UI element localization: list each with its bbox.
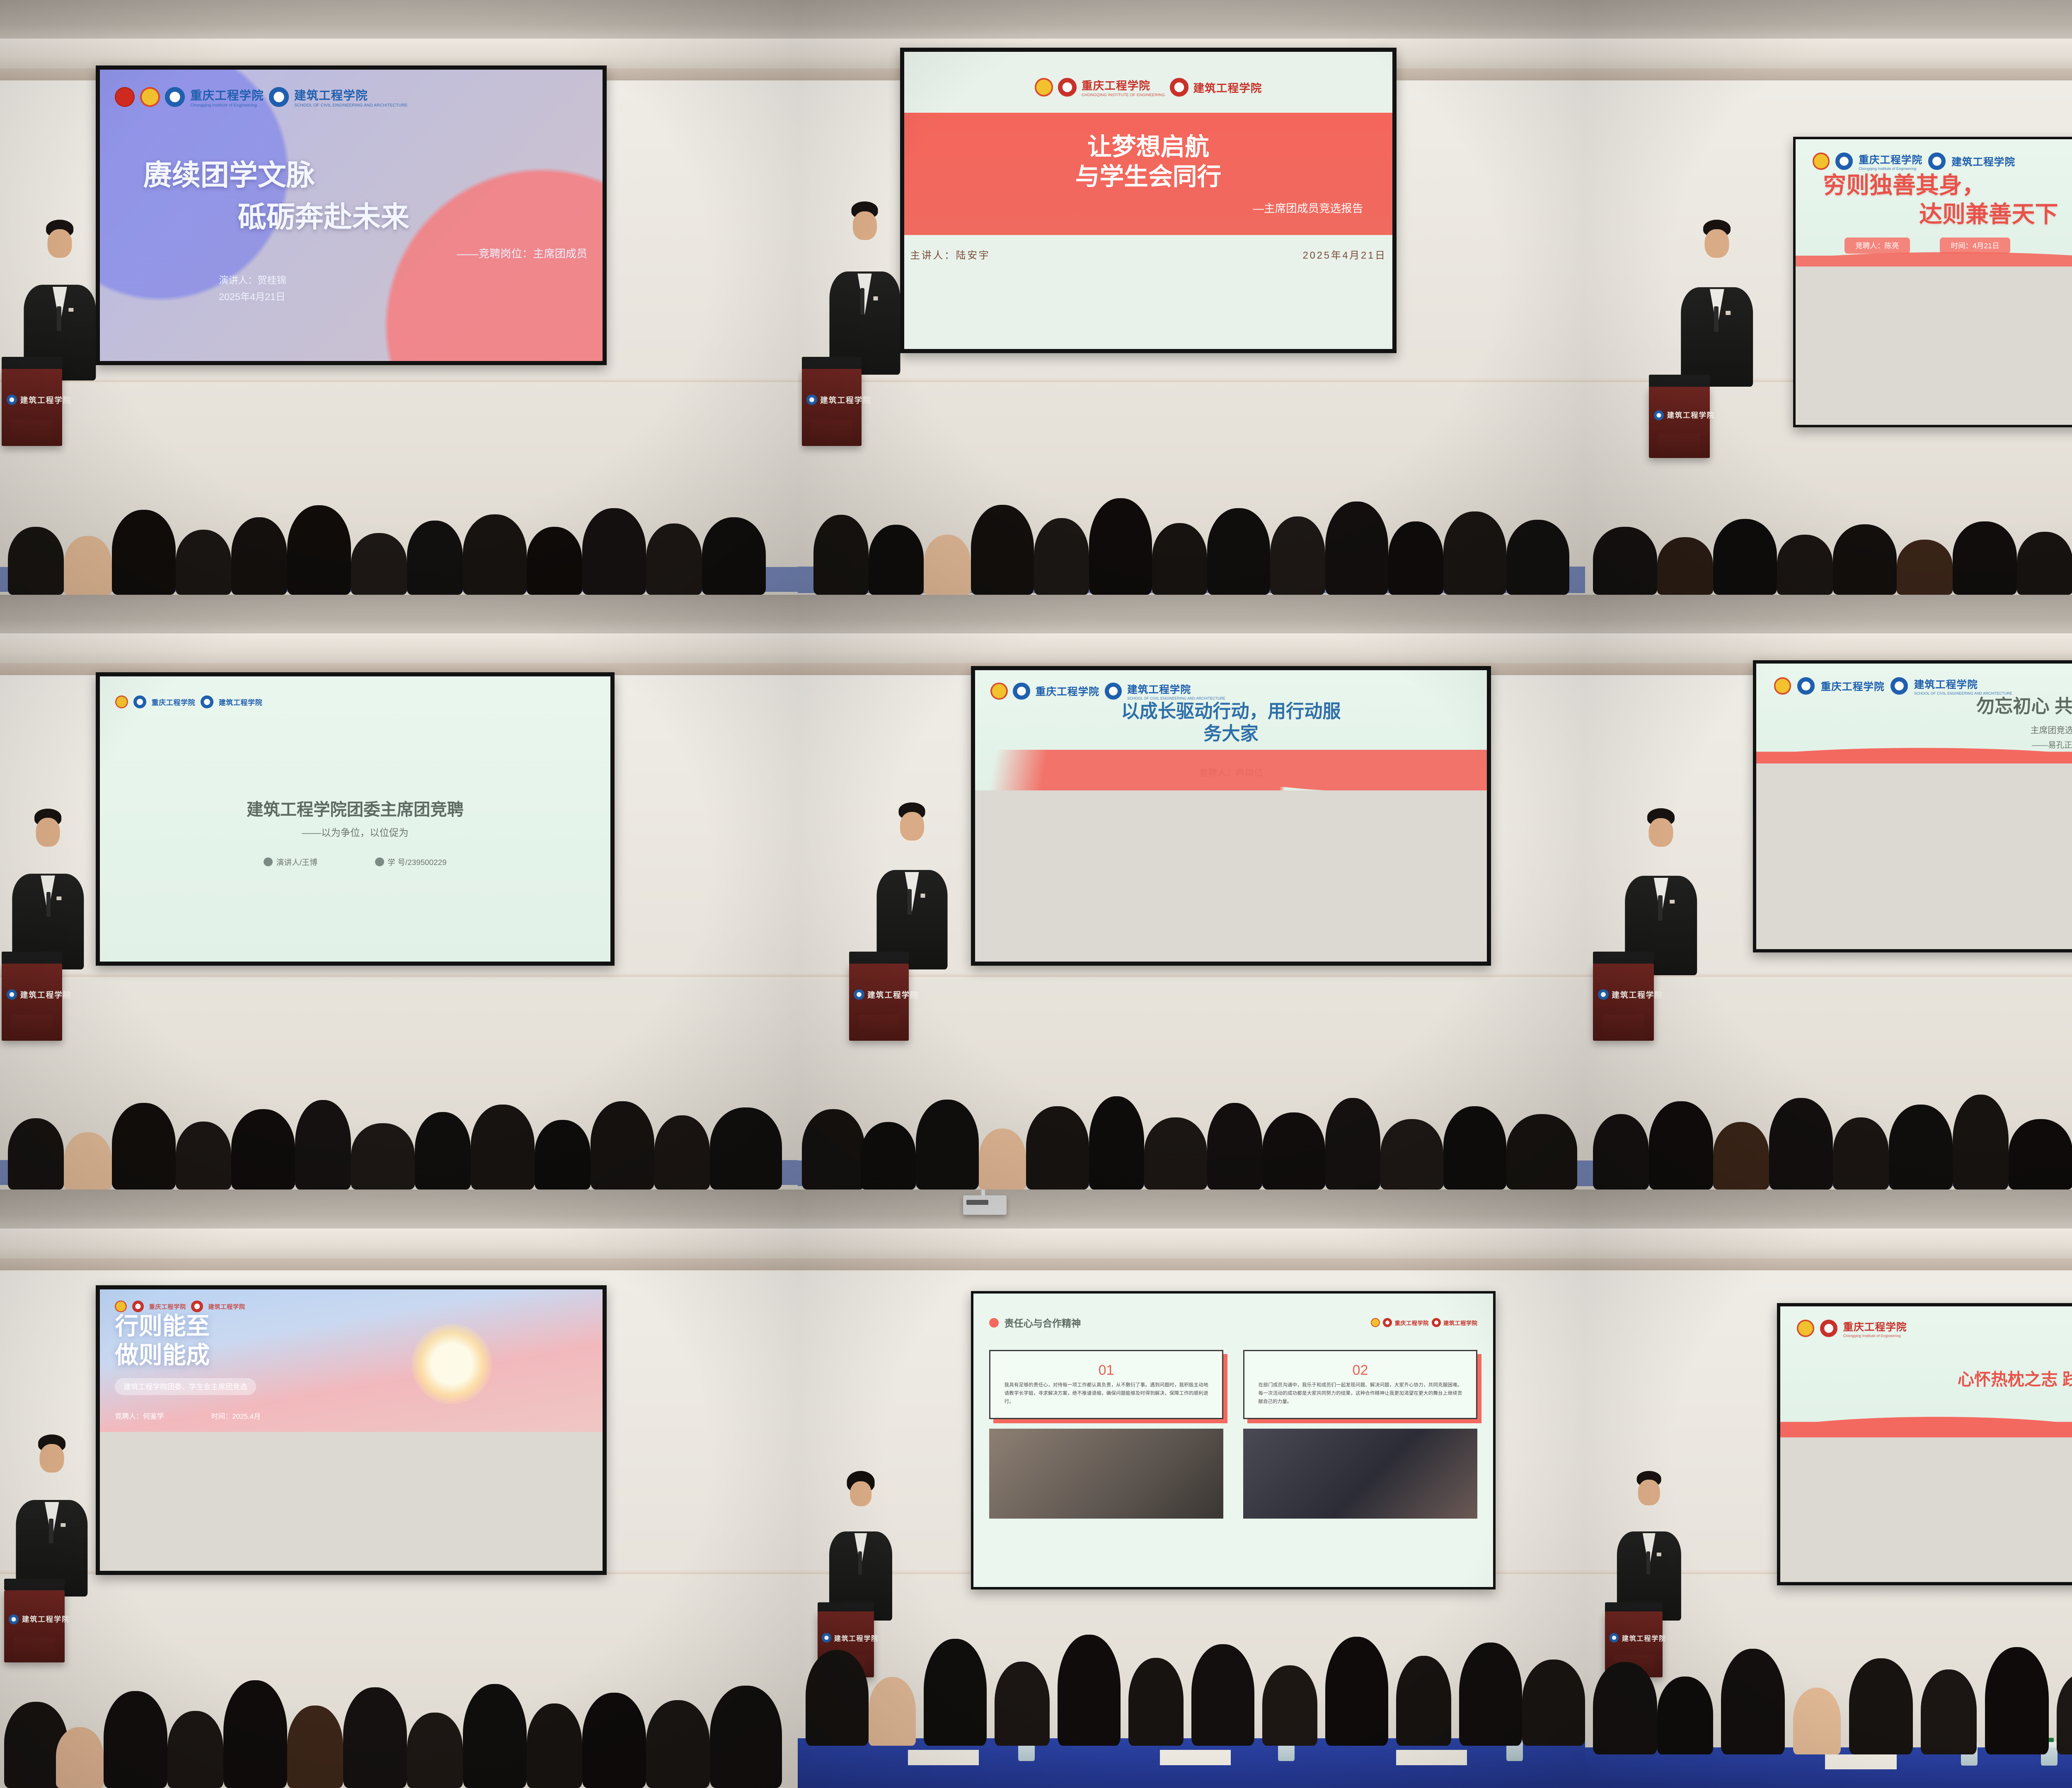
audience-head xyxy=(582,1693,646,1788)
university-seal-icon xyxy=(1835,153,1853,170)
speaker-figure xyxy=(829,208,900,375)
school-name: 建筑工程学院 xyxy=(219,697,262,707)
audience-seating xyxy=(1585,1602,2072,1788)
slide-title-line-1: 让梦想启航 xyxy=(934,132,1363,162)
slide-date: 时间：2025.4月 xyxy=(211,1410,261,1421)
audience-head xyxy=(1721,1649,1785,1754)
youth-league-emblem-icon xyxy=(1797,1320,1814,1337)
projection-screen: 重庆工程学院 Chongqing Institute of Engineerin… xyxy=(96,65,607,365)
audience-head xyxy=(813,515,869,595)
card-number: 01 xyxy=(1005,1363,1208,1377)
speaker-badge xyxy=(68,308,73,312)
audience-head xyxy=(924,535,971,595)
audience-head xyxy=(1191,1644,1254,1746)
youth-league-emblem-icon xyxy=(1774,677,1791,695)
slide-meta: 竞聘人：何鉴学 时间：2025.4月 xyxy=(115,1410,587,1421)
university-seal-icon xyxy=(133,695,146,708)
audience-head xyxy=(2057,1673,2072,1754)
card-box: 02 在部门成员沟通中，我乐于和成员们一起发现问题、解决问题，大家齐心协力，共同… xyxy=(1243,1350,1478,1419)
university-seal-icon xyxy=(1058,78,1077,97)
audience-head xyxy=(1058,1635,1121,1746)
ceiling-projector xyxy=(963,1195,1007,1214)
audience-head xyxy=(1380,1119,1443,1190)
audience-head xyxy=(1921,1669,1977,1755)
audience-head xyxy=(1897,540,1953,595)
ceiling xyxy=(1585,595,2072,636)
audience-head xyxy=(1026,1106,1089,1190)
projection-screen: 重庆工程学院 Chongqing Institute of Engineerin… xyxy=(1793,137,2072,427)
slide-logo-bar: 重庆工程学院 Chongqing Institute of Engineerin… xyxy=(1797,1319,2072,1338)
audience-head xyxy=(1325,502,1388,595)
university-name: 重庆工程学院 xyxy=(1821,678,1885,693)
podium-sign: 建筑工程学院 xyxy=(1651,397,1707,434)
audience-head xyxy=(295,1100,351,1190)
school-name: 建筑工程学院 xyxy=(1951,154,2015,169)
slide-logo-bar: 重庆工程学院 Chongqing Institute of Engineerin… xyxy=(1813,152,2072,171)
audience-head xyxy=(1207,508,1270,595)
audience-head xyxy=(1985,1647,2049,1755)
slide-panel-3: 重庆工程学院 Chongqing Institute of Engineerin… xyxy=(1796,139,2072,267)
podium-sign: 建筑工程学院 xyxy=(804,380,859,420)
university-name: 重庆工程学院 CHONGQING INSTITUTE OF ENGINEERIN… xyxy=(1082,77,1165,97)
school-name: 建筑工程学院 xyxy=(208,1302,245,1311)
ceiling xyxy=(0,0,798,41)
slide-logo-bar: 重庆工程学院 建筑工程学院 xyxy=(115,688,595,717)
school-seal-icon xyxy=(854,989,864,1000)
slide-chip: 建筑工程学院团委、学生会主席团竞选 xyxy=(115,1378,256,1395)
audience-head xyxy=(1459,1643,1522,1746)
school-seal-icon xyxy=(1890,677,1908,695)
ceiling-trim xyxy=(1585,68,2072,82)
audience-head xyxy=(527,527,583,595)
university-seal-icon xyxy=(165,87,185,107)
school-seal-icon xyxy=(1598,989,1609,1000)
audience-head xyxy=(64,536,112,595)
wall-seam xyxy=(798,379,1585,383)
audience-head xyxy=(1833,1117,1889,1190)
audience-head xyxy=(343,1687,407,1788)
university-seal-icon xyxy=(132,1301,144,1313)
school-seal-icon xyxy=(7,395,17,405)
slide-title-line-1: 穷则独善其身， xyxy=(1823,171,2072,200)
wall-seam xyxy=(0,379,798,383)
audience-head xyxy=(1443,1106,1506,1190)
university-seal-icon xyxy=(1383,1318,1392,1327)
microphone-icon xyxy=(57,306,61,331)
school-name: 建筑工程学院 SCHOOL OF CIVIL ENGINEERING AND A… xyxy=(294,86,408,108)
audience-head xyxy=(1443,511,1506,595)
youth-league-emblem-icon xyxy=(1371,1318,1380,1327)
projection-screen: 重庆工程学院 建筑工程学院 SCHOOL OF CIVIL ENGINEERIN… xyxy=(1753,660,2072,952)
ceiling-soffit xyxy=(798,633,1585,666)
microphone-icon xyxy=(1646,1551,1650,1574)
audience-head xyxy=(415,1112,471,1190)
school-name: 建筑工程学院 xyxy=(1443,1319,1477,1327)
card-box: 01 我具有足够的责任心，对待每一项工作都认真负责，从不敷衍了事。遇到问题时，我… xyxy=(989,1350,1224,1419)
slide-panel-6: 重庆工程学院 建筑工程学院 SCHOOL OF CIVIL ENGINEERIN… xyxy=(1756,664,2072,763)
university-seal-icon xyxy=(1013,683,1030,700)
panel-top-right: 重庆工程学院 Chongqing Institute of Engineerin… xyxy=(1585,0,2072,595)
university-name: 重庆工程学院 Chongqing Institute of Engineerin… xyxy=(190,86,264,108)
youth-league-emblem-icon xyxy=(140,87,160,107)
slide-student-id: 学 号/239500229 xyxy=(375,856,447,867)
audience-head xyxy=(916,1100,979,1190)
podium: 建筑工程学院 xyxy=(1649,387,1710,458)
audience-head xyxy=(535,1120,591,1190)
youth-league-emblem-icon xyxy=(115,695,128,708)
audience-head xyxy=(1889,1105,1953,1190)
school-name: 建筑工程学院 SCHOOL OF CIVIL ENGINEERING AND A… xyxy=(1127,681,1225,700)
speaker-head xyxy=(40,1444,64,1473)
audience-seating xyxy=(0,1035,798,1190)
audience-head xyxy=(1657,1677,1713,1754)
school-seal-icon xyxy=(1105,683,1122,700)
audience-head xyxy=(1657,537,1713,595)
slide-speaker: 主讲人：陆安宇 xyxy=(910,247,990,262)
wall-seam xyxy=(0,974,798,977)
speaker-suit xyxy=(1681,287,1753,387)
audience-head xyxy=(1593,527,1657,595)
audience-head xyxy=(1388,521,1443,595)
audience-head xyxy=(995,1662,1050,1746)
red-mountain-decoration xyxy=(1780,1408,2072,1437)
audience-head xyxy=(471,1105,535,1190)
microphone-icon xyxy=(46,892,51,917)
slide-title-line-2: 砥砺奔赴未来 xyxy=(238,200,588,235)
slide-title-line-1: 赓续团学文脉 xyxy=(143,158,588,193)
audience-head xyxy=(463,514,527,595)
slide-panel-1: 重庆工程学院 Chongqing Institute of Engineerin… xyxy=(100,70,603,361)
ceiling-trim xyxy=(1585,1258,2072,1272)
panel-bottom-center: 责任心与合作精神 重庆工程学院 建筑工程学院 xyxy=(798,1190,1585,1788)
microphone-icon xyxy=(860,288,864,315)
speaker-head xyxy=(1705,229,1729,258)
podium: 建筑工程学院 xyxy=(2,369,62,446)
card-text: 我具有足够的责任心，对待每一项工作都认真负责，从不敷衍了事。遇到问题时，我积极主… xyxy=(1005,1381,1208,1406)
audience-head xyxy=(463,1684,527,1788)
audience-head xyxy=(1777,535,1833,595)
nameplate xyxy=(1825,1754,1897,1769)
audience-head xyxy=(407,521,463,595)
audience-head xyxy=(1089,1096,1144,1190)
audience-head xyxy=(802,1109,865,1190)
speaker-shirt xyxy=(857,274,871,315)
audience-head xyxy=(1506,1114,1577,1190)
speaker-badge xyxy=(1657,1553,1661,1556)
ceiling-soffit xyxy=(1585,1228,2072,1261)
speaker-head xyxy=(850,1481,871,1507)
audience-head xyxy=(1262,1112,1325,1190)
podium-top xyxy=(849,952,909,965)
audience-head xyxy=(104,1691,167,1788)
panel-middle-right: 重庆工程学院 建筑工程学院 SCHOOL OF CIVIL ENGINEERIN… xyxy=(1585,595,2072,1190)
podium-top xyxy=(1593,952,1654,965)
speaker-badge xyxy=(1670,900,1675,904)
speaker-head xyxy=(1649,818,1673,847)
slide-footer: 主讲人：陆安宇 2025年4月21日 xyxy=(904,235,1392,262)
audience-head xyxy=(223,1680,287,1788)
wall-seam xyxy=(798,974,1585,977)
audience-head xyxy=(351,1123,415,1190)
slide-cards: 01 我具有足够的责任心，对待每一项工作都认真负责，从不敷衍了事。遇到问题时，我… xyxy=(989,1350,1478,1575)
slide-candidate: 竞聘人：何鉴学 xyxy=(115,1410,164,1421)
slide-panel-8: 责任心与合作精神 重庆工程学院 建筑工程学院 xyxy=(973,1294,1493,1587)
panel-bottom-right: 重庆工程学院 Chongqing Institute of Engineerin… xyxy=(1585,1190,2072,1788)
slide-subtitle: —主席团成员竞选报告 xyxy=(934,202,1363,216)
projection-screen: 责任心与合作精神 重庆工程学院 建筑工程学院 xyxy=(971,1291,1496,1589)
id-icon xyxy=(375,858,384,867)
audience-head xyxy=(654,1115,710,1190)
ceiling xyxy=(798,1190,1585,1231)
school-seal-icon xyxy=(191,1301,203,1313)
microphone-icon xyxy=(1658,895,1662,921)
audience-head xyxy=(64,1132,112,1190)
speaker-head xyxy=(1638,1480,1660,1505)
slide-speaker: 演讲人/王博 xyxy=(264,856,317,867)
projection-screen: 重庆工程学院 建筑工程学院 SCHOOL OF CIVIL ENGINEERIN… xyxy=(971,666,1491,966)
audience-head xyxy=(1833,524,1897,595)
youth-league-emblem-icon xyxy=(1035,78,1053,97)
university-name: 重庆工程学院 xyxy=(1036,683,1099,698)
school-name: 建筑工程学院 xyxy=(1193,79,1262,95)
university-name: 重庆工程学院 Chongqing Institute of Engineerin… xyxy=(1859,152,1922,171)
audience-head xyxy=(924,1639,987,1746)
audience-head xyxy=(1325,1098,1380,1190)
speaker-figure xyxy=(1617,1477,1681,1621)
audience-seating xyxy=(0,1609,798,1788)
audience-head xyxy=(1262,1665,1317,1746)
university-seal-icon xyxy=(1797,677,1815,695)
slide-date: 2025年4月21日 xyxy=(1303,247,1387,262)
podium-sign: 建筑工程学院 xyxy=(4,974,60,1015)
speaker-figure xyxy=(12,815,84,969)
ceiling xyxy=(798,595,1585,636)
panel-top-center: 重庆工程学院 CHONGQING INSTITUTE OF ENGINEERIN… xyxy=(798,0,1585,595)
audience-head xyxy=(1144,1117,1207,1190)
slide-title-line-1: 建筑工程学院团委主席团竞聘 xyxy=(115,800,595,820)
slide-panel-2: 重庆工程学院 CHONGQING INSTITUTE OF ENGINEERIN… xyxy=(904,52,1392,349)
slide-heading: 责任心与合作精神 xyxy=(989,1316,1081,1330)
audience-head xyxy=(971,505,1034,595)
speaker-head xyxy=(48,229,72,258)
speaker-badge xyxy=(61,1523,65,1527)
nameplate xyxy=(1160,1750,1231,1765)
slide-logo-bar: 重庆工程学院 建筑工程学院 xyxy=(115,1301,587,1313)
audience-head xyxy=(1270,516,1325,595)
speaker-head xyxy=(852,211,876,240)
audience-head xyxy=(806,1650,869,1746)
card-photo xyxy=(989,1429,1224,1519)
audience-head xyxy=(56,1727,104,1788)
audience-head xyxy=(1953,1095,2009,1190)
ceiling xyxy=(1585,0,2072,41)
school-seal-icon xyxy=(1928,153,1946,170)
slide-logo-bar: 重庆工程学院 建筑工程学院 SCHOOL OF CIVIL ENGINEERIN… xyxy=(1774,676,2072,695)
content-card: 02 在部门成员沟通中，我乐于和成员们一起发现问题、解决问题，大家齐心协力，共同… xyxy=(1243,1350,1478,1575)
projection-screen: 重庆工程学院 建筑工程学院 建筑工程学院团委主席团竞聘 ——以为争位，以位促为 … xyxy=(96,672,615,966)
audience-head xyxy=(351,533,407,595)
slide-title-line-1: 以成长驱动行动，用行动服 xyxy=(990,700,1472,723)
audience-head xyxy=(1953,521,2016,595)
slide-logo-bar: 重庆工程学院 建筑工程学院 xyxy=(1371,1318,1477,1327)
audience-head xyxy=(1152,523,1207,595)
university-seal-icon xyxy=(1820,1320,1837,1337)
nameplate xyxy=(1396,1750,1467,1765)
audience-head xyxy=(231,1109,295,1190)
slide-title-line-2: 做则能成 xyxy=(115,1341,587,1370)
speaker-figure xyxy=(1681,226,1753,386)
audience-head xyxy=(1207,1103,1262,1190)
audience-seating xyxy=(798,428,1585,595)
audience-head xyxy=(176,530,232,595)
speaker-figure xyxy=(16,1441,88,1596)
audience-head xyxy=(1506,520,1569,595)
podium-base xyxy=(1659,434,1700,458)
audience-head xyxy=(2017,532,2072,595)
slide-title-line-1: 行则能至 xyxy=(115,1312,587,1341)
slide-panel-7: 重庆工程学院 建筑工程学院 行则能至 做则能成 建筑工程学院团委、学生会主席团竞… xyxy=(100,1289,603,1432)
audience-head xyxy=(8,1118,64,1190)
slide-logo-bar: 重庆工程学院 建筑工程学院 SCHOOL OF CIVIL ENGINEERIN… xyxy=(990,681,1472,700)
audience-seating xyxy=(1585,464,2072,595)
audience-head xyxy=(710,1107,782,1190)
slide-logo-bar: 重庆工程学院 CHONGQING INSTITUTE OF ENGINEERIN… xyxy=(904,52,1392,113)
university-name: 重庆工程学院 xyxy=(149,1302,186,1311)
podium: 建筑工程学院 xyxy=(2,964,62,1041)
podium-sign: 建筑工程学院 xyxy=(851,974,906,1015)
ceiling xyxy=(798,0,1585,41)
university-name: 重庆工程学院 xyxy=(152,697,195,707)
audience-head xyxy=(1593,1662,1657,1755)
podium-sign: 建筑工程学院 xyxy=(1595,974,1651,1015)
school-seal-icon xyxy=(201,695,213,708)
projection-screen: 重庆工程学院 建筑工程学院 行则能至 做则能成 建筑工程学院团委、学生会主席团竞… xyxy=(96,1285,607,1575)
audience-head xyxy=(167,1711,223,1788)
audience-head xyxy=(231,517,287,595)
podium-sign: 建筑工程学院 xyxy=(4,380,60,420)
audience-head xyxy=(869,525,924,595)
speaker-badge xyxy=(56,896,61,900)
audience-head xyxy=(287,1706,343,1788)
audience-head xyxy=(1849,1658,1913,1755)
audience-head xyxy=(1128,1658,1184,1746)
slide-title-line-1: 勿忘初心 共创未来 xyxy=(1774,695,2072,718)
nameplate xyxy=(908,1750,979,1765)
slide-red-band: 让梦想启航 与学生会同行 —主席团成员竞选报告 xyxy=(904,113,1392,235)
slide-panel-4: 重庆工程学院 建筑工程学院 建筑工程学院团委主席团竞聘 ——以为争位，以位促为 … xyxy=(100,676,610,962)
school-seal-icon xyxy=(1654,410,1664,420)
speaker-figure xyxy=(876,809,947,969)
red-wave-decoration xyxy=(1796,246,2072,267)
school-seal-icon xyxy=(7,989,17,1000)
audience-head xyxy=(1649,1101,1713,1190)
podium-top xyxy=(802,357,862,370)
school-seal-icon xyxy=(269,87,289,107)
audience-head xyxy=(8,527,64,595)
ceiling xyxy=(0,1190,798,1231)
audience-head xyxy=(527,1703,583,1788)
slide-speaker: 演讲人：贺桂锦 xyxy=(219,272,587,289)
podium-top xyxy=(1649,375,1710,388)
audience-head xyxy=(1396,1656,1451,1746)
audience-head xyxy=(176,1122,232,1190)
school-seal-icon xyxy=(1170,78,1188,97)
party-emblem-icon xyxy=(115,87,135,107)
slide-meta: 演讲人：贺桂锦 2025年4月21日 xyxy=(219,272,587,305)
youth-league-emblem-icon xyxy=(115,1301,127,1313)
university-name: 重庆工程学院 Chongqing Institute of Engineerin… xyxy=(1843,1319,1907,1338)
bullet-icon xyxy=(989,1318,999,1328)
audience-head xyxy=(1593,1114,1649,1190)
slide-info-row: 演讲人/王博 学 号/239500229 xyxy=(115,856,595,867)
audience-head xyxy=(861,1122,916,1190)
podium-top xyxy=(4,1579,65,1591)
person-icon xyxy=(264,858,273,867)
card-photo xyxy=(1243,1429,1478,1519)
audience-head xyxy=(646,1700,710,1788)
slide-date: 2025年4月21日 xyxy=(219,289,587,305)
audience-head xyxy=(646,523,702,595)
slide-logo-bar: 重庆工程学院 Chongqing Institute of Engineerin… xyxy=(115,81,587,113)
school-seal-icon xyxy=(806,395,817,405)
panel-middle-left: 重庆工程学院 建筑工程学院 建筑工程学院团委主席团竞聘 ——以为争位，以位促为 … xyxy=(0,595,798,1190)
microphone-icon xyxy=(858,1551,862,1574)
university-name: 重庆工程学院 xyxy=(1395,1319,1429,1327)
content-card: 01 我具有足够的责任心，对待每一项工作都认真负责，从不敷衍了事。遇到问题时，我… xyxy=(989,1350,1224,1575)
photo-collage-grid: 重庆工程学院 Chongqing Institute of Engineerin… xyxy=(0,0,2072,1788)
audience-head xyxy=(1325,1637,1388,1746)
slide-calligraphy: 穷则独善其身， 达则兼善天下 xyxy=(1813,171,2072,229)
slide-title-line-2: 达则兼善天下 xyxy=(1919,200,2072,229)
panel-bottom-left: 重庆工程学院 建筑工程学院 行则能至 做则能成 建筑工程学院团委、学生会主席团竞… xyxy=(0,1190,798,1788)
ceiling-soffit xyxy=(1585,39,2072,71)
microphone-icon xyxy=(908,889,912,915)
audience-head xyxy=(710,1686,782,1788)
school-name: 建筑工程学院 SCHOOL OF CIVIL ENGINEERING AND A… xyxy=(1914,676,2012,695)
podium-top xyxy=(2,952,62,965)
audience-head xyxy=(869,1677,916,1746)
slide-panel-9: 重庆工程学院 Chongqing Institute of Engineerin… xyxy=(1780,1306,2072,1437)
ceiling xyxy=(1585,1190,2072,1231)
microphone-icon xyxy=(1714,306,1718,332)
audience-head xyxy=(112,1103,176,1190)
ceiling-trim xyxy=(0,1258,798,1272)
card-number: 02 xyxy=(1259,1363,1462,1377)
slide-title-line-1: 心怀热枕之志 践行服务之行 xyxy=(1797,1369,2072,1390)
audience-head xyxy=(1034,518,1089,595)
speaker-badge xyxy=(1726,311,1731,315)
school-seal-icon xyxy=(1432,1318,1441,1327)
slide-subtitle: ——竞聘岗位：主席团成员 xyxy=(115,247,587,261)
red-ribbon-decoration xyxy=(975,750,1487,791)
podium-top xyxy=(2,357,62,370)
slide-title-line-2: 与学生会同行 xyxy=(934,162,1363,192)
panel-top-left: 重庆工程学院 Chongqing Institute of Engineerin… xyxy=(0,0,798,595)
ceiling-soffit xyxy=(0,1228,798,1261)
audience-head xyxy=(979,1129,1026,1190)
speaker-head xyxy=(36,818,60,846)
card-text: 在部门成员沟通中，我乐于和成员们一起发现问题、解决问题，大家齐心协力，共同克服困… xyxy=(1259,1381,1462,1406)
audience-head xyxy=(591,1101,654,1190)
slide-panel-5: 重庆工程学院 建筑工程学院 SCHOOL OF CIVIL ENGINEERIN… xyxy=(975,670,1487,790)
slide-subtitle: 主席团竞选 xyxy=(1774,725,2072,736)
projection-screen: 重庆工程学院 Chongqing Institute of Engineerin… xyxy=(1777,1303,2072,1585)
speaker-shirt xyxy=(905,872,919,912)
audience-head xyxy=(1089,498,1152,595)
audience-head xyxy=(1713,1122,1769,1190)
audience-head xyxy=(287,505,351,595)
audience-head xyxy=(1793,1688,1841,1754)
